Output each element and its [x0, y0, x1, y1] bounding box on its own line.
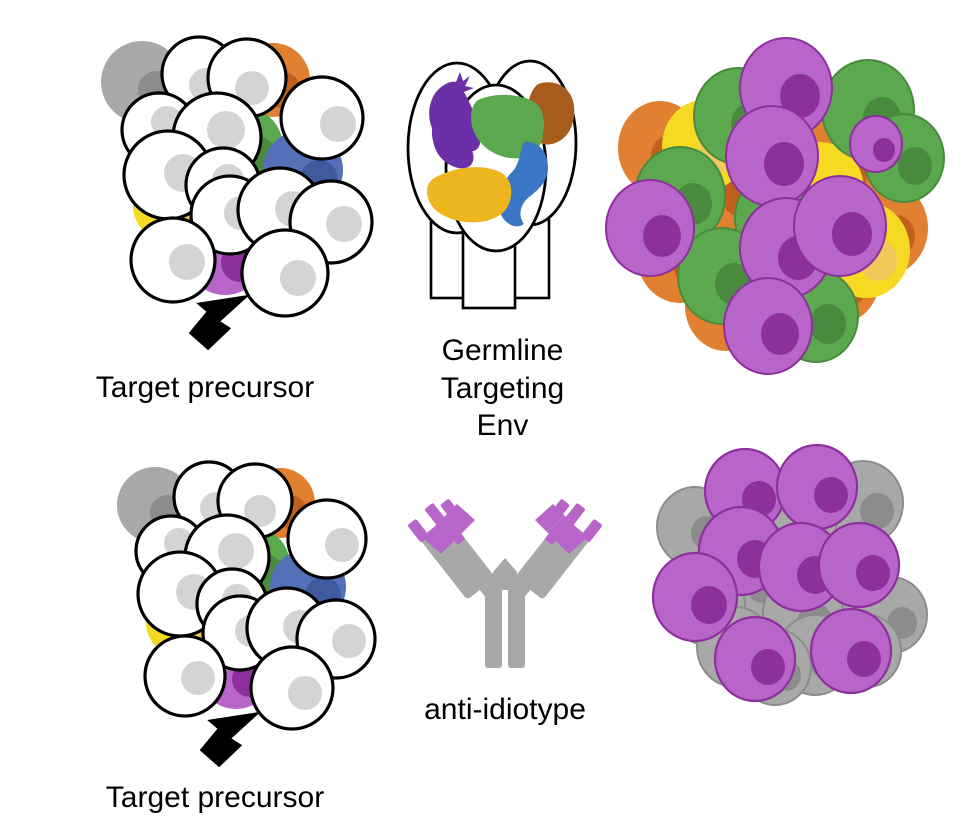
cell-white	[242, 230, 328, 316]
cell-cluster	[101, 37, 372, 316]
anti-idiotype-svg	[405, 498, 605, 678]
anti-idiotype-label: anti-idiotype	[380, 692, 630, 729]
germline-targeting-env	[400, 48, 605, 318]
cell-white	[145, 636, 225, 716]
naive-repertoire-top	[95, 40, 385, 340]
polyclonal-expansion-svg	[608, 38, 958, 368]
naive-repertoire-top-svg	[95, 40, 385, 340]
cell-white	[251, 647, 333, 729]
env-trimer-svg	[400, 48, 605, 318]
target-precursor-label-bottom: Target precursor	[60, 780, 370, 817]
naive-repertoire-bottom	[110, 465, 390, 755]
cell-cluster	[117, 462, 375, 729]
focused-expansion-svg	[655, 455, 925, 705]
anti-idiotype-antibody	[405, 498, 605, 678]
cell-white	[131, 218, 215, 302]
polyclonal-expansion	[608, 38, 958, 368]
focused-expansion	[655, 455, 925, 705]
naive-repertoire-bottom-svg	[110, 465, 390, 755]
target-precursor-label-top: Target precursor	[50, 370, 360, 407]
germline-targeting-env-label: Germline Targeting Env	[400, 332, 605, 445]
cell-white	[288, 500, 366, 578]
cell-white	[281, 77, 363, 159]
